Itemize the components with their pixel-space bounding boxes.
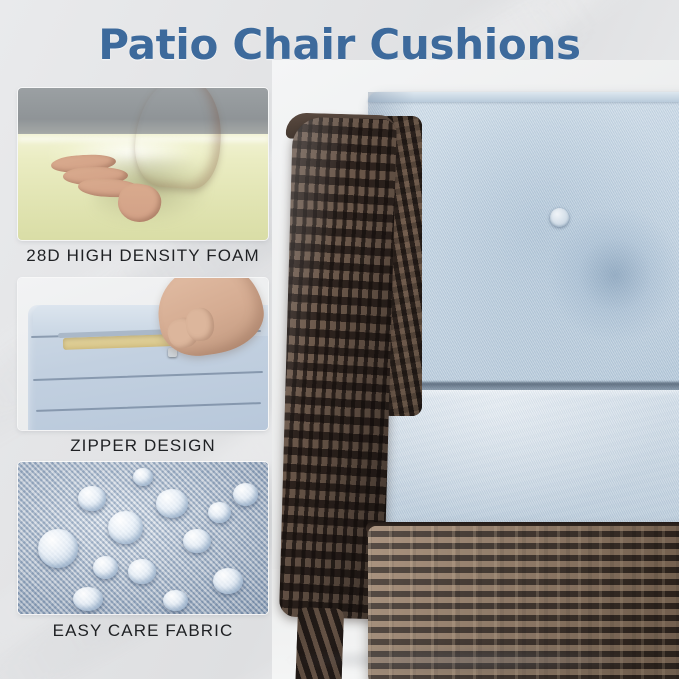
water-droplet [156, 489, 189, 518]
patio-chair-photo [272, 60, 679, 679]
water-droplet [93, 556, 118, 579]
feature-image-zipper-design [18, 278, 268, 430]
water-droplet [128, 559, 156, 583]
water-droplet [38, 529, 78, 569]
feature-caption-high-density-foam: 28D HIGH DENSITY FOAM [0, 246, 286, 266]
tuft-shadow [546, 206, 679, 344]
water-droplet [78, 486, 106, 510]
water-droplet [108, 511, 143, 544]
water-droplet [183, 529, 211, 553]
hand-icon [132, 88, 224, 191]
water-droplet [163, 590, 188, 611]
water-droplet [233, 483, 258, 506]
tufted-button [550, 208, 569, 227]
product-feature-graphic: Patio Chair Cushions 28D HIGH DENSITY FO… [0, 0, 679, 679]
chair-floor-shadow [282, 647, 662, 673]
feature-caption-zipper-design: ZIPPER DESIGN [0, 436, 286, 456]
water-droplet [73, 587, 103, 611]
cushion-piping [368, 92, 679, 102]
water-droplet [208, 502, 231, 523]
feature-image-high-density-foam [18, 88, 268, 240]
feature-image-easy-care-fabric [18, 462, 268, 614]
feature-caption-easy-care-fabric: EASY CARE FABRIC [0, 621, 286, 641]
